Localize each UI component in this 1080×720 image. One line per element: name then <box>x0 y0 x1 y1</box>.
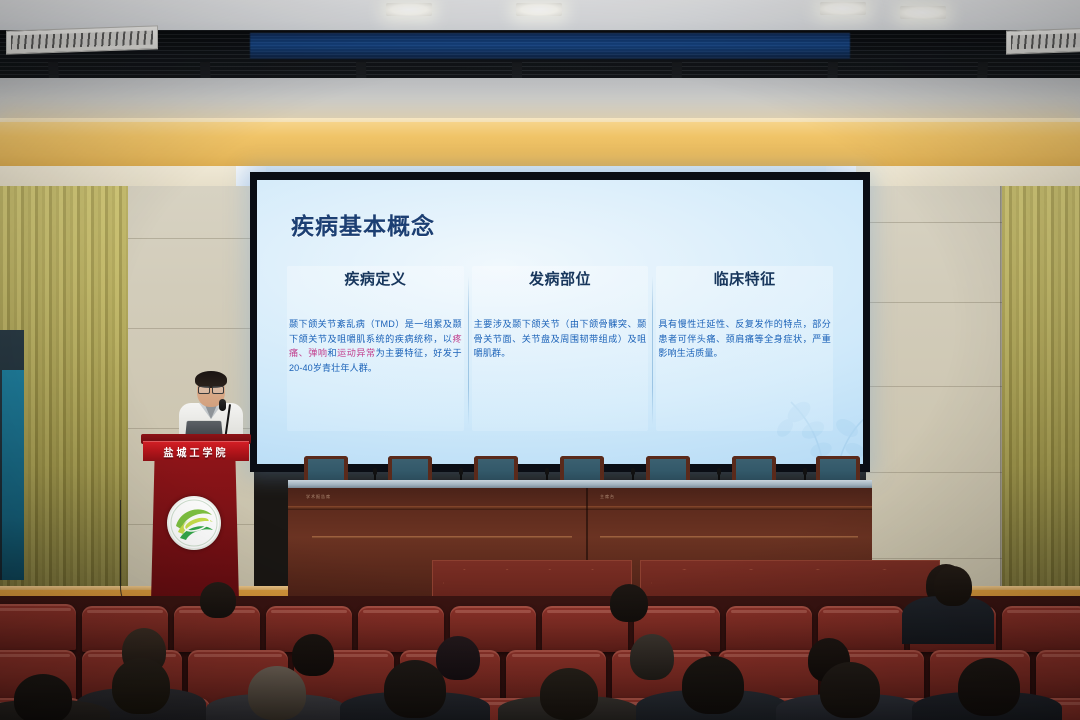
head-table-engraving: 学术报告席 <box>306 494 331 500</box>
ceiling-downlight <box>820 2 866 15</box>
ceiling-downlight <box>900 6 946 19</box>
column-heading-clinical-features: 临床特征 <box>658 266 831 289</box>
slide-column-3: 临床特征 具有慢性迁延性、反复发作的特点，部分患者可伴头痛、颈肩痛等全身症状，严… <box>652 266 837 431</box>
wall-slat-panel-right <box>1002 186 1080 616</box>
body-text-segment: 颞下颌关节紊乱病（TMD）是一组累及颞下颌关节及咀嚼肌系统的疾病统称，以 <box>289 319 462 344</box>
audience-seat[interactable] <box>358 606 444 652</box>
slide-column-1: 疾病定义 颞下颌关节紊乱病（TMD）是一组累及颞下颌关节及咀嚼肌系统的疾病统称，… <box>283 266 468 431</box>
podium-microphone[interactable] <box>219 399 226 411</box>
column-body-affected-site: 主要涉及颞下颌关节（由下颌骨髁突、颞骨关节面、关节盘及周围韧带组成）及咀嚼肌群。 <box>474 317 647 361</box>
ceiling-downlight <box>516 3 562 16</box>
podium-banner: 盐城工学院 <box>143 441 249 461</box>
audience-person-head <box>540 668 598 720</box>
air-vent <box>1006 25 1080 54</box>
audience-person-head <box>200 582 236 618</box>
audience-person-head <box>112 658 170 714</box>
audience-person-head <box>610 584 648 622</box>
audience-person-head <box>934 566 972 606</box>
podium-banner-text: 盐城工学院 <box>164 443 229 459</box>
lecture-hall-photo: 疾病基本概念 疾病定义 颞下颌关节紊乱病（TMD）是一组累及颞下颌关节及咀嚼肌系… <box>0 0 1080 720</box>
audience-person-head <box>248 666 306 720</box>
ceiling-downlight <box>386 3 432 16</box>
audience-person-head <box>14 674 72 720</box>
column-body-disease-definition: 颞下颌关节紊乱病（TMD）是一组累及颞下颌关节及咀嚼肌系统的疾病统称，以疼痛、弹… <box>289 317 462 376</box>
audience-person-head <box>820 662 880 718</box>
ceiling-blue-light-band <box>250 33 850 59</box>
slide-title: 疾病基本概念 <box>291 207 435 241</box>
audience-area <box>0 596 1080 720</box>
audience-person-head <box>384 660 446 718</box>
body-text-highlight: 运动异常 <box>337 348 375 358</box>
audience-person-head <box>682 656 744 714</box>
projection-screen: 疾病基本概念 疾病定义 颞下颌关节紊乱病（TMD）是一组累及颞下颌关节及咀嚼肌系… <box>250 172 870 472</box>
slide-column-2: 发病部位 主要涉及颞下颌关节（由下颌骨髁突、颞骨关节面、关节盘及周围韧带组成）及… <box>468 266 653 431</box>
audience-seat[interactable] <box>1002 606 1080 652</box>
eyeglasses-icon <box>198 386 224 392</box>
side-door[interactable] <box>2 370 24 580</box>
cove-warm-light <box>0 122 1080 170</box>
head-table-engraving: 主席台 <box>600 494 615 500</box>
audience-person-head <box>630 634 674 680</box>
university-emblem-icon <box>167 496 221 550</box>
audience-seat[interactable] <box>0 604 76 650</box>
audience-person-head <box>436 636 480 680</box>
column-heading-disease-definition: 疾病定义 <box>289 266 462 289</box>
audience-seat[interactable] <box>726 606 812 652</box>
head-table-rail <box>288 506 872 510</box>
column-heading-affected-site: 发病部位 <box>474 266 647 289</box>
audience-person-head <box>958 658 1020 716</box>
wall-panel-right <box>866 186 1002 616</box>
head-table-moulding <box>600 536 858 539</box>
body-text-segment: 和 <box>327 348 337 358</box>
presentation-slide: 疾病基本概念 疾病定义 颞下颌关节紊乱病（TMD）是一组累及颞下颌关节及咀嚼肌系… <box>257 180 863 464</box>
audience-person-head <box>292 634 334 676</box>
slide-columns: 疾病定义 颞下颌关节紊乱病（TMD）是一组累及颞下颌关节及咀嚼肌系统的疾病统称，… <box>283 266 837 431</box>
column-body-clinical-features: 具有慢性迁延性、反复发作的特点，部分患者可伴头痛、颈肩痛等全身症状，严重影响生活… <box>658 317 831 361</box>
head-table-moulding <box>312 536 572 539</box>
